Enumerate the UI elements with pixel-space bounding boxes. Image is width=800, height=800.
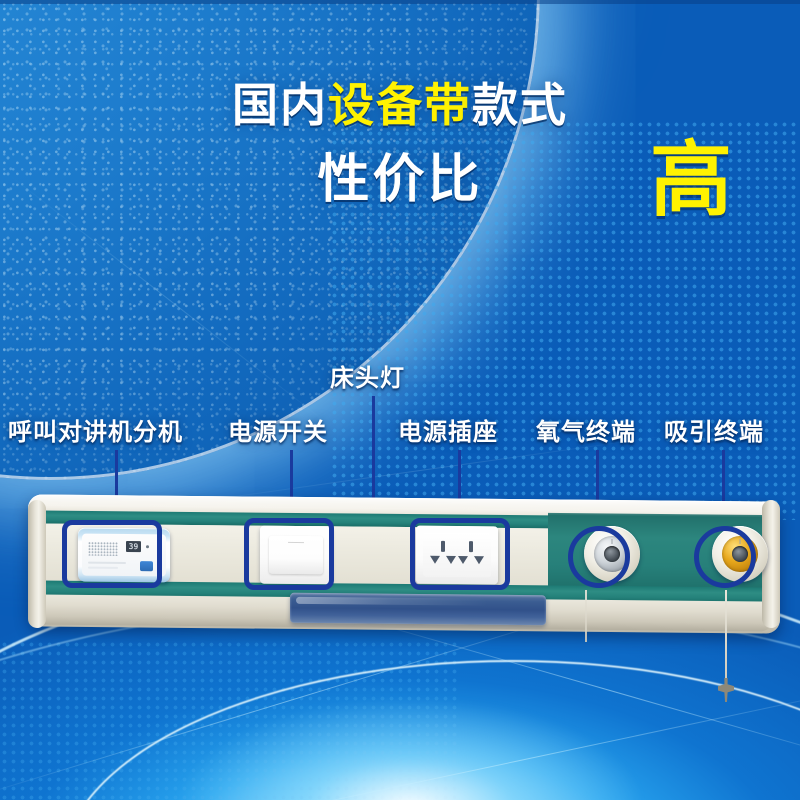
callout-label-power-socket: 电源插座 xyxy=(398,412,498,447)
highlight-box-power-socket xyxy=(410,518,510,590)
callout-label-intercom: 呼叫对讲机分机 xyxy=(8,412,183,447)
bed-lamp-sheen xyxy=(296,597,488,606)
bed-lamp-diffuser[interactable] xyxy=(290,593,546,625)
headline-big-word: 高 xyxy=(650,140,732,222)
highlight-box-power-switch xyxy=(244,518,334,590)
highlight-circle-oxygen xyxy=(568,526,630,588)
unit-end-cap-left xyxy=(28,500,46,628)
headline-text-white-a: 国内 xyxy=(232,78,328,132)
oxygen-hose-cord xyxy=(585,590,587,642)
callout-label-suction-outlet: 吸引终端 xyxy=(664,412,764,447)
callout-label-power-switch: 电源开关 xyxy=(228,412,328,447)
headline-text-white-b: 款式 xyxy=(472,78,568,132)
headline-text-yellow: 设备带 xyxy=(328,78,472,132)
highlight-box-intercom xyxy=(62,520,162,588)
top-edge-bar xyxy=(0,0,800,4)
suction-pull-cord xyxy=(725,590,727,688)
headline-line-1: 国内设备带款式 xyxy=(0,82,800,128)
callout-label-bed-lamp: 床头灯 xyxy=(330,358,405,393)
callout-label-oxygen-outlet: 氧气终端 xyxy=(536,412,636,447)
highlight-circle-suction xyxy=(694,526,756,588)
poster-canvas: 国内设备带款式 性价比 高 呼叫对讲机分机 电源开关 床头灯 电源插座 氧气终端… xyxy=(0,0,800,800)
